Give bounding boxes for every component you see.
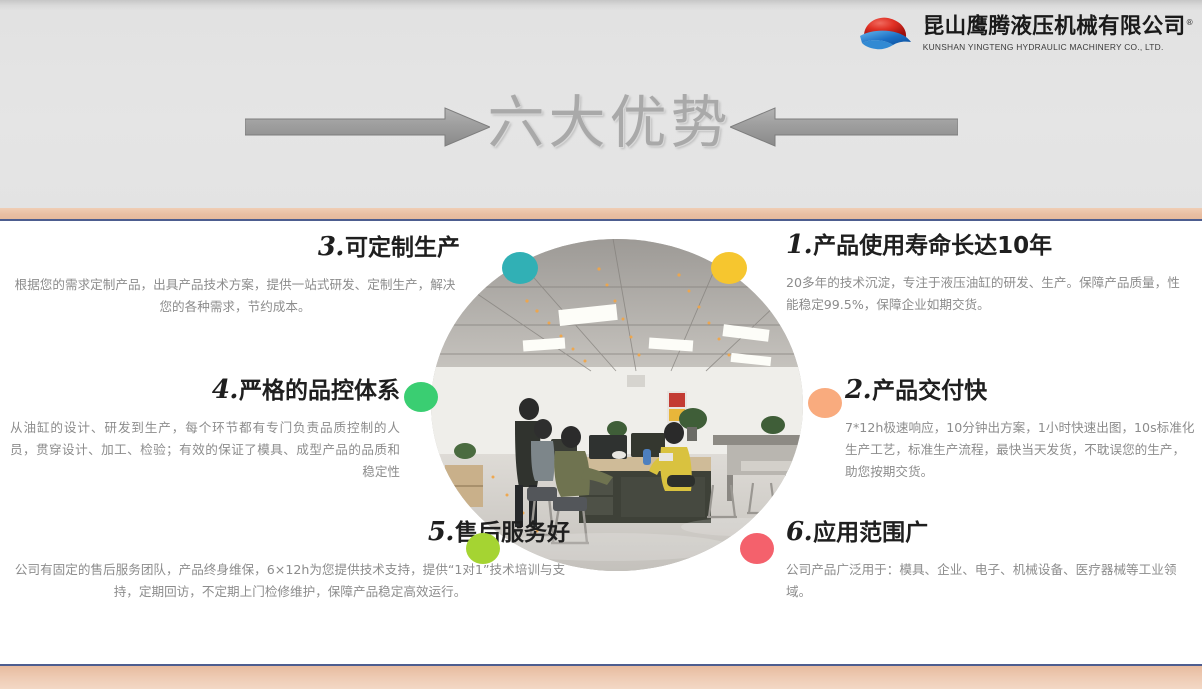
feature-5-number: 5. — [428, 517, 455, 547]
header-band: 昆山鹰腾液压机械有限公司® KUNSHAN YINGTENG HYDRAULIC… — [0, 0, 1202, 208]
arrow-left-icon — [730, 106, 958, 148]
logo-text-block: 昆山鹰腾液压机械有限公司® KUNSHAN YINGTENG HYDRAULIC… — [923, 15, 1194, 51]
feature-1-heading: 1.产品使用寿命长达10年 — [786, 231, 1186, 260]
feature-1-title: 产品使用寿命长达10年 — [813, 233, 1052, 259]
page-title: 六大优势 — [484, 95, 736, 152]
feature-item-2: 2.产品交付快 7*12h极速响应，10分钟出方案，1小时快速出图，10s标准化… — [845, 376, 1195, 484]
feature-4-title: 严格的品控体系 — [239, 378, 400, 404]
feature-2-heading: 2.产品交付快 — [845, 376, 1195, 405]
feature-1-body: 20多年的技术沉淀，专注于液压油缸的研发、生产。保障产品质量，性能稳定99.5%… — [786, 272, 1186, 317]
dot-lime — [466, 533, 500, 564]
feature-3-number: 3. — [318, 232, 345, 262]
header-top-rule — [0, 0, 1202, 6]
feature-6-title: 应用范围广 — [813, 520, 928, 546]
section-title-row: 六大优势 — [0, 84, 1202, 170]
dot-yellow — [711, 252, 747, 284]
feature-item-1: 1.产品使用寿命长达10年 20多年的技术沉淀，专注于液压油缸的研发、生产。保障… — [786, 231, 1186, 316]
slide-canvas: 昆山鹰腾液压机械有限公司® KUNSHAN YINGTENG HYDRAULIC… — [0, 0, 1202, 689]
feature-3-heading: 3.可定制生产 — [10, 233, 460, 262]
feature-3-title: 可定制生产 — [345, 235, 460, 261]
feature-item-6: 6.应用范围广 公司产品广泛用于：模具、企业、电子、机械设备、医疗器械等工业领域… — [786, 518, 1186, 603]
dot-red — [740, 533, 774, 564]
feature-6-body: 公司产品广泛用于：模具、企业、电子、机械设备、医疗器械等工业领域。 — [786, 559, 1186, 604]
content-area: 1.产品使用寿命长达10年 20多年的技术沉淀，专注于液压油缸的研发、生产。保障… — [0, 221, 1202, 649]
company-name-cn: 昆山鹰腾液压机械有限公司® — [923, 16, 1194, 38]
company-name-cn-text: 昆山鹰腾液压机械有限公司 — [923, 14, 1186, 39]
company-logo: 昆山鹰腾液压机械有限公司® KUNSHAN YINGTENG HYDRAULIC… — [858, 14, 1194, 52]
feature-4-body: 从油缸的设计、研发到生产，每个环节都有专门负责品质控制的人员，贯穿设计、加工、检… — [10, 417, 400, 484]
dot-green — [404, 382, 438, 412]
feature-4-number: 4. — [212, 375, 239, 405]
feature-6-number: 6. — [786, 517, 813, 547]
feature-4-heading: 4.严格的品控体系 — [10, 376, 400, 405]
feature-2-body: 7*12h极速响应，10分钟出方案，1小时快速出图，10s标准化生产工艺，标准生… — [845, 417, 1195, 484]
feature-item-4: 4.严格的品控体系 从油缸的设计、研发到生产，每个环节都有专门负责品质控制的人员… — [10, 376, 400, 484]
dot-teal — [502, 252, 538, 284]
feature-item-3: 3.可定制生产 根据您的需求定制产品，出具产品技术方案，提供一站式研发、定制生产… — [10, 233, 460, 318]
registered-mark: ® — [1186, 18, 1194, 27]
feature-2-number: 2. — [845, 375, 872, 405]
feature-2-title: 产品交付快 — [872, 378, 987, 404]
feature-1-number: 1. — [786, 230, 813, 260]
feature-5-body: 公司有固定的售后服务团队，产品终身维保，6×12h为您提供技术支持，提供“1对1… — [10, 559, 570, 604]
arrow-right-icon — [245, 106, 490, 148]
sun-over-wave-logo-icon — [858, 14, 914, 52]
company-name-en: KUNSHAN YINGTENG HYDRAULIC MACHINERY CO.… — [923, 43, 1194, 51]
footer-band — [0, 666, 1202, 689]
dot-orange — [808, 388, 842, 418]
feature-3-body: 根据您的需求定制产品，出具产品技术方案，提供一站式研发、定制生产，解决您的各种需… — [10, 274, 460, 319]
feature-6-heading: 6.应用范围广 — [786, 518, 1186, 547]
accent-band — [0, 208, 1202, 219]
